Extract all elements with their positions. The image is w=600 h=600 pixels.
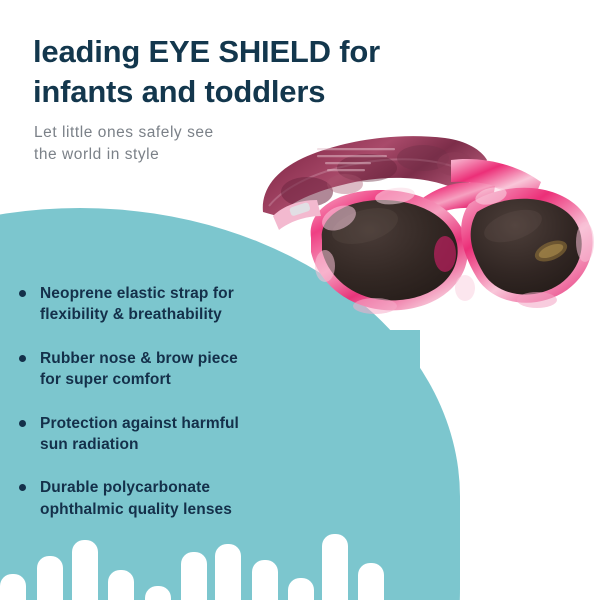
list-item: Neoprene elastic strap for flexibility &… (16, 283, 316, 326)
decorative-bar (358, 563, 384, 600)
feature-line-1: Durable polycarbonate (40, 477, 316, 498)
right-lens-group (461, 188, 592, 303)
promo-poster: leading EYE SHIELD for infants and toddl… (0, 0, 600, 600)
feature-line-1: Rubber nose & brow piece (40, 348, 316, 369)
list-item: Rubber nose & brow piece for super comfo… (16, 348, 316, 391)
decorative-bar (72, 540, 98, 600)
headline-line-1: leading EYE SHIELD for (33, 32, 453, 72)
headline-line-2: infants and toddlers (33, 72, 453, 112)
bullet-dot-icon (19, 355, 26, 362)
decorative-bar (0, 574, 26, 600)
page-title: leading EYE SHIELD for infants and toddl… (33, 32, 453, 111)
decorative-bar (37, 556, 63, 600)
decorative-bar (288, 578, 314, 600)
decorative-bar (252, 560, 278, 600)
decorative-bar (322, 534, 348, 600)
decorative-bar (181, 552, 207, 600)
bullet-dot-icon (19, 290, 26, 297)
subtitle: Let little ones safely see the world in … (34, 122, 284, 167)
feature-line-2: sun radiation (40, 434, 316, 455)
feature-list: Neoprene elastic strap for flexibility &… (16, 283, 316, 520)
subtitle-line-1: Let little ones safely see (34, 122, 284, 144)
bottom-bar-decoration (0, 530, 430, 600)
feature-line-1: Protection against harmful (40, 413, 316, 434)
list-item: Durable polycarbonate ophthalmic quality… (16, 477, 316, 520)
subtitle-line-2: the world in style (34, 144, 284, 166)
list-item: Protection against harmful sun radiation (16, 413, 316, 456)
feature-line-2: for super comfort (40, 369, 316, 390)
bullet-dot-icon (19, 484, 26, 491)
bullet-dot-icon (19, 420, 26, 427)
feature-line-1: Neoprene elastic strap for (40, 283, 316, 304)
decorative-bar (215, 544, 241, 600)
feature-line-2: flexibility & breathability (40, 304, 316, 325)
feature-line-2: ophthalmic quality lenses (40, 499, 316, 520)
decorative-bar (145, 586, 171, 600)
decorative-bar (108, 570, 134, 600)
